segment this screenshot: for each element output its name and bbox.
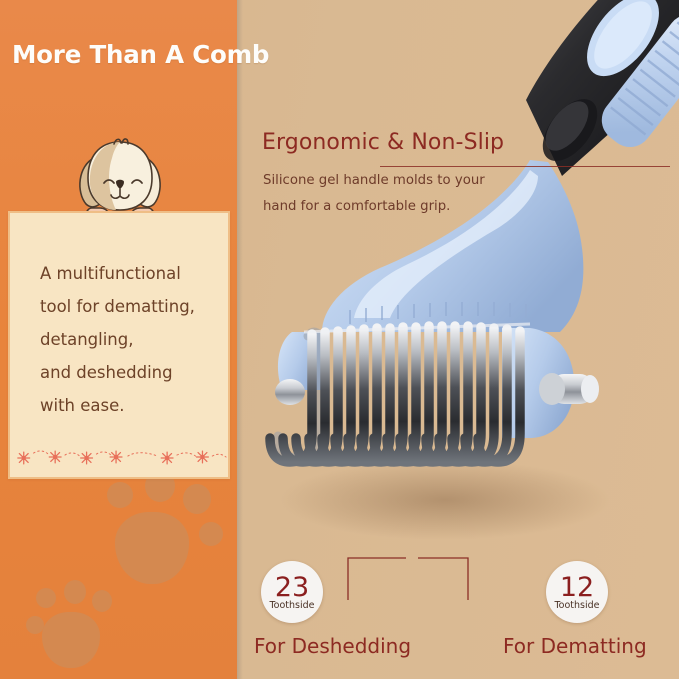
callout-sublabel: Toothside <box>269 600 314 611</box>
card-text: A multifunctional tool for dematting, de… <box>40 257 220 422</box>
card-line: with ease. <box>40 389 220 422</box>
cartoon-dog-icon <box>66 136 174 220</box>
panel-edge-shadow <box>237 0 243 679</box>
flower-border-decoration <box>10 445 228 471</box>
card-line: and deshedding <box>40 356 220 389</box>
page-title: More Than A Comb <box>12 40 238 69</box>
callout-badge-deshedding: 23 Toothside <box>261 561 323 623</box>
product-image-dematting-comb <box>230 0 679 580</box>
card-line: tool for dematting, <box>40 290 220 323</box>
paw-print-large <box>95 470 225 590</box>
callout-sublabel: Toothside <box>554 600 599 611</box>
card-line: detangling, <box>40 323 220 356</box>
callout-number: 12 <box>560 575 594 600</box>
callout-badge-dematting: 12 Toothside <box>546 561 608 623</box>
paw-print-small <box>26 580 122 672</box>
annotation-body: Silicone gel handle molds to your hand f… <box>263 168 519 220</box>
callout-brackets <box>290 548 520 600</box>
annotation-body-line: Silicone gel handle molds to your <box>263 168 519 194</box>
callout-label-dematting: For Dematting <box>503 634 647 658</box>
description-card: A multifunctional tool for dematting, de… <box>8 211 230 479</box>
annotation-heading: Ergonomic & Non-Slip <box>262 130 504 155</box>
callout-number: 23 <box>275 575 309 600</box>
callout-label-deshedding: For Deshedding <box>254 634 411 658</box>
leader-line-to-handle <box>380 166 670 167</box>
infographic-canvas: More Than A Comb A mul <box>0 0 679 679</box>
annotation-body-line: hand for a comfortable grip. <box>263 194 519 220</box>
card-line: A multifunctional <box>40 257 220 290</box>
